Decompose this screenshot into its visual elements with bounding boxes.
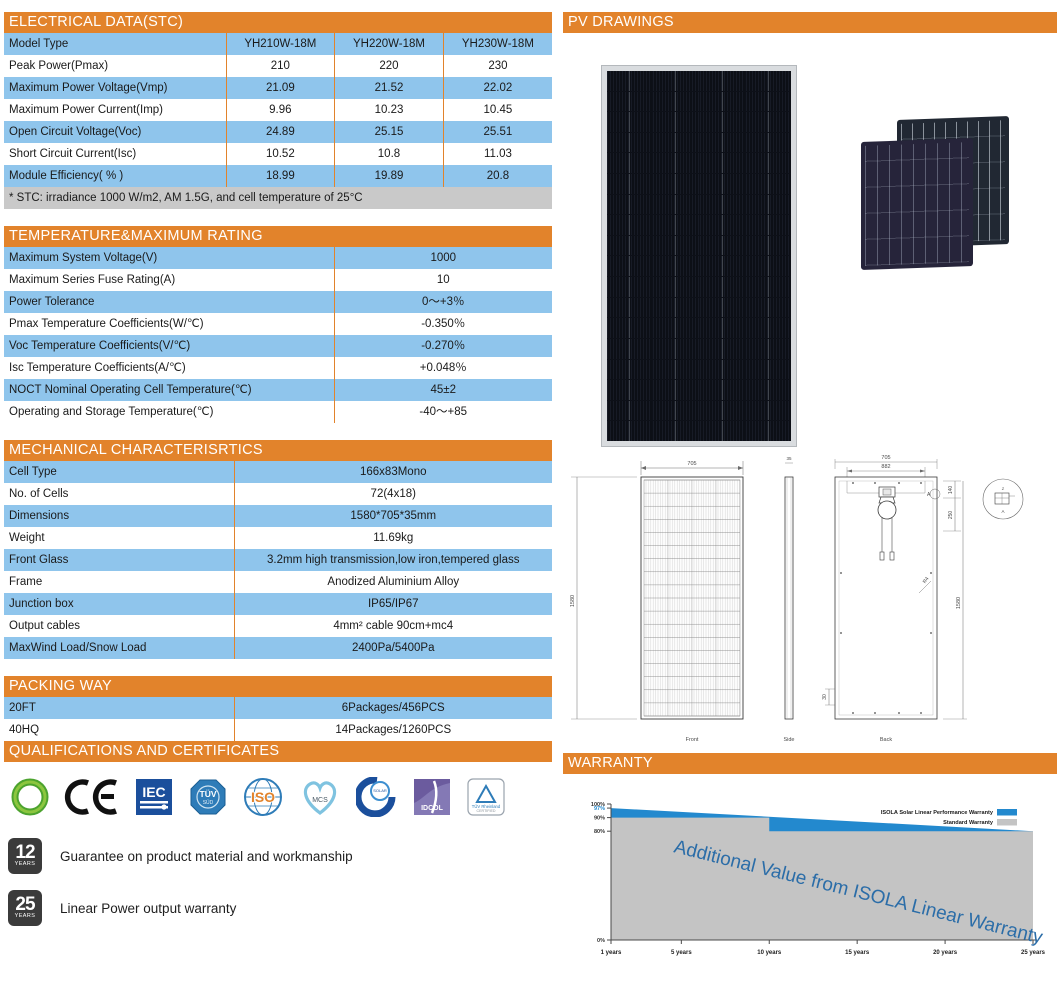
y-axis-tick-label: 90% bbox=[594, 816, 605, 822]
panel-cell bbox=[700, 236, 745, 256]
section-header-packing: PACKING WAY bbox=[4, 676, 552, 697]
table-row: Maximum Power Current(Imp) 9.96 10.23 10… bbox=[4, 99, 552, 121]
legend-label: Standard Warranty bbox=[943, 820, 994, 826]
panel-cell bbox=[653, 277, 698, 297]
y-axis-tick-label: 0% bbox=[597, 938, 605, 944]
warranty-description: Guarantee on product material and workma… bbox=[60, 849, 353, 864]
panel-cell bbox=[653, 236, 698, 256]
view-label-back: Back bbox=[880, 737, 892, 743]
cell-value: 230 bbox=[443, 55, 552, 77]
panel-cell bbox=[607, 360, 652, 380]
cell-value: 4mm² cable 90cm+mc4 bbox=[234, 615, 552, 637]
panel-cell bbox=[653, 401, 698, 421]
panel-cell bbox=[653, 256, 698, 276]
section-header-mechanical: MECHANICAL CHARACTERISRTICS bbox=[4, 440, 552, 461]
dim-hole-offset: 30 bbox=[822, 694, 828, 700]
panel-cell bbox=[607, 236, 652, 256]
panel-cell bbox=[653, 380, 698, 400]
panel-cell bbox=[746, 360, 791, 380]
cell-value: Anodized Aluminium Alloy bbox=[234, 571, 552, 593]
panel-cell bbox=[700, 298, 745, 318]
svg-text:A: A bbox=[1001, 509, 1004, 514]
datasheet-page: ELECTRICAL DATA(STC) Model Type YH210W-1… bbox=[0, 0, 1060, 999]
panel-cell bbox=[746, 256, 791, 276]
svg-text:SOLAR: SOLAR bbox=[373, 788, 387, 793]
x-axis-tick-label: 10 years bbox=[757, 950, 782, 956]
mechanical-table-body: Cell Type 166x83Mono No. of Cells 72(4x1… bbox=[4, 461, 552, 659]
warranty-years-number: 12 bbox=[15, 844, 34, 861]
dimension-drawings: 705 1580 Fr bbox=[563, 453, 1057, 753]
cell-value: 14Packages/1260PCS bbox=[234, 719, 552, 741]
cell-value: 25.51 bbox=[443, 121, 552, 143]
section-header-qualifications: QUALIFICATIONS AND CERTIFICATES bbox=[4, 741, 552, 762]
section-header-temperature: TEMPERATURE&MAXIMUM RATING bbox=[4, 226, 552, 247]
table-row: Cell Type 166x83Mono bbox=[4, 461, 552, 483]
table-row: Voc Temperature Coefficients(V/℃) -0.270… bbox=[4, 335, 552, 357]
blue-circle-certificate-icon: SOLAR bbox=[356, 775, 398, 819]
cell-value: 21.09 bbox=[226, 77, 335, 99]
legend-swatch bbox=[997, 809, 1017, 816]
panel-cell bbox=[653, 112, 698, 132]
warranty-badge-list: 12 YEARS Guarantee on product material a… bbox=[4, 824, 552, 934]
panel-cell bbox=[607, 256, 652, 276]
cell-value: 2400Pa/5400Pa bbox=[234, 637, 552, 659]
cell-value: 10 bbox=[334, 269, 552, 291]
panel-cell bbox=[746, 133, 791, 153]
y-axis-tick-label: 80% bbox=[594, 829, 605, 835]
front-view: 705 1580 Fr bbox=[570, 461, 743, 743]
cell-value: -0.350％ bbox=[334, 313, 552, 335]
section-header-warranty: WARRANTY bbox=[563, 753, 1057, 774]
panel-cell bbox=[607, 318, 652, 338]
row-label: Pmax Temperature Coefficients(W/℃) bbox=[4, 313, 334, 335]
model-name: YH210W-18M bbox=[226, 33, 335, 55]
panel-cell bbox=[700, 195, 745, 215]
panel-cell bbox=[653, 92, 698, 112]
back-view: 705 882 bbox=[822, 455, 967, 743]
tuv-certificate-icon: TÜV SÜD bbox=[188, 775, 228, 819]
panel-cell bbox=[700, 133, 745, 153]
svg-text:MCS: MCS bbox=[312, 797, 328, 804]
cell-value: 220 bbox=[335, 55, 444, 77]
cell-value: 11.03 bbox=[443, 143, 552, 165]
panel-cell bbox=[607, 298, 652, 318]
spacer bbox=[4, 423, 552, 440]
panel-cell bbox=[607, 153, 652, 173]
row-label: Peak Power(Pmax) bbox=[4, 55, 226, 77]
svg-text:SÜD: SÜD bbox=[203, 799, 214, 806]
warranty-badge-row: 25 YEARS Linear Power output warranty bbox=[8, 882, 548, 934]
panel-cell bbox=[700, 360, 745, 380]
cell-value: 166x83Mono bbox=[234, 461, 552, 483]
cell-value: 18.99 bbox=[226, 165, 335, 187]
row-label: Maximum Series Fuse Rating(A) bbox=[4, 269, 334, 291]
panel-cell bbox=[700, 421, 745, 441]
dim-back-width: 705 bbox=[881, 455, 890, 461]
right-column: PV DRAWINGS bbox=[563, 12, 1057, 974]
panel-cell bbox=[607, 339, 652, 359]
panel-cell bbox=[746, 236, 791, 256]
idcol-certificate-icon: IDCOL bbox=[412, 775, 452, 819]
panel-cell bbox=[653, 318, 698, 338]
cell-value: 72(4x18) bbox=[234, 483, 552, 505]
panel-cell bbox=[653, 133, 698, 153]
panel-cell bbox=[746, 195, 791, 215]
dim-thickness: 35 bbox=[786, 456, 792, 461]
panel-cell bbox=[607, 133, 652, 153]
cell-value: 1580*705*35mm bbox=[234, 505, 552, 527]
row-label: Cell Type bbox=[4, 461, 234, 483]
panel-cell bbox=[746, 92, 791, 112]
row-label: Model Type bbox=[4, 33, 226, 55]
x-axis-tick-label: 5 years bbox=[671, 950, 692, 956]
table-row: Peak Power(Pmax) 210 220 230 bbox=[4, 55, 552, 77]
packing-table-body: 20FT 6Packages/456PCS 40HQ 14Packages/12… bbox=[4, 697, 552, 741]
cell-value: 45±2 bbox=[334, 379, 552, 401]
row-label: Operating and Storage Temperature(℃) bbox=[4, 401, 334, 423]
panel-cell bbox=[700, 339, 745, 359]
cell-value: 0～+3％ bbox=[334, 291, 552, 313]
x-axis-tick-label: 25 years bbox=[1021, 950, 1046, 956]
row-label: NOCT Nominal Operating Cell Temperature(… bbox=[4, 379, 334, 401]
panel-cell bbox=[653, 298, 698, 318]
electrical-data-table: Model Type YH210W-18M YH220W-18M YH230W-… bbox=[4, 33, 552, 209]
panel-cell bbox=[607, 195, 652, 215]
row-label: 20FT bbox=[4, 697, 234, 719]
cell-value: 21.52 bbox=[335, 77, 444, 99]
panel-cell bbox=[746, 153, 791, 173]
panel-cell bbox=[746, 298, 791, 318]
mcs-certificate-icon: MCS bbox=[298, 775, 342, 819]
panel-cell bbox=[746, 174, 791, 194]
svg-text:CERTIFIED: CERTIFIED bbox=[477, 809, 496, 813]
panel-cell bbox=[746, 421, 791, 441]
table-row-model-header: Model Type YH210W-18M YH220W-18M YH230W-… bbox=[4, 33, 552, 55]
table-row: Front Glass 3.2mm high transmission,low … bbox=[4, 549, 552, 571]
left-column: ELECTRICAL DATA(STC) Model Type YH210W-1… bbox=[4, 12, 552, 934]
panel-cell bbox=[700, 215, 745, 235]
table-row: Maximum Power Voltage(Vmp) 21.09 21.52 2… bbox=[4, 77, 552, 99]
row-label: Junction box bbox=[4, 593, 234, 615]
table-row: 20FT 6Packages/456PCS bbox=[4, 697, 552, 719]
cell-value: 1000 bbox=[334, 247, 552, 269]
side-view: 35 Side bbox=[783, 456, 794, 743]
detail-view-a: Z A bbox=[983, 479, 1023, 519]
row-label: Maximum Power Current(Imp) bbox=[4, 99, 226, 121]
warranty-years-number: 25 bbox=[15, 896, 34, 913]
cell-value: 9.96 bbox=[226, 99, 335, 121]
cell-value: 22.02 bbox=[443, 77, 552, 99]
panel-cell bbox=[700, 112, 745, 132]
table-row: Maximum System Voltage(V) 1000 bbox=[4, 247, 552, 269]
svg-text:IEC: IEC bbox=[142, 784, 165, 800]
cell-value: 10.8 bbox=[335, 143, 444, 165]
panel-cell bbox=[700, 256, 745, 276]
table-row: Short Circuit Current(Isc) 10.52 10.8 11… bbox=[4, 143, 552, 165]
solar-cell-images bbox=[853, 118, 1043, 268]
svg-text:IDCOL: IDCOL bbox=[421, 805, 444, 812]
row-label: Short Circuit Current(Isc) bbox=[4, 143, 226, 165]
cell-value: 10.52 bbox=[226, 143, 335, 165]
temperature-table-body: Maximum System Voltage(V) 1000 Maximum S… bbox=[4, 247, 552, 423]
electrical-table-body: Model Type YH210W-18M YH220W-18M YH230W-… bbox=[4, 33, 552, 209]
y-axis-tick-label: 100% bbox=[591, 802, 605, 808]
table-row: Output cables 4mm² cable 90cm+mc4 bbox=[4, 615, 552, 637]
row-label: Open Circuit Voltage(Voc) bbox=[4, 121, 226, 143]
dim-mount-span: 882 bbox=[881, 464, 890, 470]
panel-cell bbox=[700, 318, 745, 338]
table-row: Operating and Storage Temperature(℃) -40… bbox=[4, 401, 552, 423]
panel-cell-grid bbox=[607, 71, 791, 441]
warranty-years-unit: YEARS bbox=[15, 913, 36, 920]
panel-cell bbox=[746, 318, 791, 338]
cell-value: 19.89 bbox=[335, 165, 444, 187]
panel-cell bbox=[607, 215, 652, 235]
panel-cell bbox=[653, 360, 698, 380]
panel-cell bbox=[700, 92, 745, 112]
panel-cell bbox=[653, 339, 698, 359]
svg-text:Z: Z bbox=[1002, 486, 1005, 491]
x-axis-tick-label: 1 years bbox=[601, 950, 622, 956]
panel-cell bbox=[653, 174, 698, 194]
table-row: Open Circuit Voltage(Voc) 24.89 25.15 25… bbox=[4, 121, 552, 143]
panel-cell bbox=[746, 71, 791, 91]
panel-cell bbox=[653, 71, 698, 91]
panel-cell bbox=[607, 277, 652, 297]
iec-certificate-icon: IEC bbox=[134, 775, 174, 819]
row-label: Module Efficiency( % ) bbox=[4, 165, 226, 187]
cell-value: -40～+85 bbox=[334, 401, 552, 423]
panel-cell bbox=[653, 421, 698, 441]
panel-cell bbox=[607, 174, 652, 194]
panel-cell bbox=[700, 380, 745, 400]
panel-cell bbox=[746, 112, 791, 132]
solar-panel-image bbox=[601, 65, 797, 447]
panel-cell bbox=[746, 277, 791, 297]
row-label: 40HQ bbox=[4, 719, 234, 741]
warranty-badge-row: 12 YEARS Guarantee on product material a… bbox=[8, 830, 548, 882]
panel-cell bbox=[653, 215, 698, 235]
dim-frame-height: 1580 bbox=[956, 597, 962, 609]
temperature-rating-table: Maximum System Voltage(V) 1000 Maximum S… bbox=[4, 247, 552, 423]
table-row: Isc Temperature Coefficients(A/℃) +0.048… bbox=[4, 357, 552, 379]
table-row: No. of Cells 72(4x18) bbox=[4, 483, 552, 505]
table-row: Pmax Temperature Coefficients(W/℃) -0.35… bbox=[4, 313, 552, 335]
cell-value: 210 bbox=[226, 55, 335, 77]
panel-cell bbox=[607, 92, 652, 112]
row-label: Output cables bbox=[4, 615, 234, 637]
legend-label: ISOLA Solar Linear Performance Warranty bbox=[881, 810, 994, 816]
packing-way-table: 20FT 6Packages/456PCS 40HQ 14Packages/12… bbox=[4, 697, 552, 741]
cell-value: 20.8 bbox=[443, 165, 552, 187]
panel-cell bbox=[607, 380, 652, 400]
table-row: 40HQ 14Packages/1260PCS bbox=[4, 719, 552, 741]
chart-legend: ISOLA Solar Linear Performance Warranty … bbox=[881, 809, 1017, 826]
panel-cell bbox=[607, 112, 652, 132]
cell-value: -0.270％ bbox=[334, 335, 552, 357]
panel-cell bbox=[607, 401, 652, 421]
cell-busbars bbox=[865, 142, 969, 266]
row-label: Frame bbox=[4, 571, 234, 593]
panel-cell bbox=[607, 421, 652, 441]
section-header-electrical: ELECTRICAL DATA(STC) bbox=[4, 12, 552, 33]
spacer bbox=[4, 659, 552, 676]
tuv-certified-icon: TÜV Rheinland CERTIFIED bbox=[466, 775, 506, 819]
table-row: NOCT Nominal Operating Cell Temperature(… bbox=[4, 379, 552, 401]
table-row: Module Efficiency( % ) 18.99 19.89 20.8 bbox=[4, 165, 552, 187]
row-label: MaxWind Load/Snow Load bbox=[4, 637, 234, 659]
panel-cell bbox=[746, 401, 791, 421]
row-label: Maximum Power Voltage(Vmp) bbox=[4, 77, 226, 99]
table-row: Junction box IP65/IP67 bbox=[4, 593, 552, 615]
svg-text:TÜV: TÜV bbox=[200, 789, 217, 799]
legend-swatch bbox=[997, 819, 1017, 826]
ce-mark-icon bbox=[64, 775, 120, 819]
table-row: Frame Anodized Aluminium Alloy bbox=[4, 571, 552, 593]
cell-value: 10.23 bbox=[335, 99, 444, 121]
cell-value: 3.2mm high transmission,low iron,tempere… bbox=[234, 549, 552, 571]
pv-product-images bbox=[563, 33, 1057, 453]
row-label: Maximum System Voltage(V) bbox=[4, 247, 334, 269]
green-ring-icon bbox=[10, 775, 50, 819]
model-name: YH220W-18M bbox=[335, 33, 444, 55]
table-row: Dimensions 1580*705*35mm bbox=[4, 505, 552, 527]
panel-frame bbox=[601, 65, 797, 447]
iso-certificate-icon: ISO bbox=[242, 775, 284, 819]
view-label-front: Front bbox=[686, 737, 699, 743]
view-label-side: Side bbox=[783, 737, 794, 743]
spacer bbox=[4, 209, 552, 226]
cell-value: 6Packages/456PCS bbox=[234, 697, 552, 719]
warranty-years-unit: YEARS bbox=[15, 861, 36, 868]
panel-cell bbox=[700, 401, 745, 421]
section-header-pv-drawings: PV DRAWINGS bbox=[563, 12, 1057, 33]
row-label: Front Glass bbox=[4, 549, 234, 571]
cell-value: 10.45 bbox=[443, 99, 552, 121]
row-label: Dimensions bbox=[4, 505, 234, 527]
warranty-chart: 0%80%90%97%100% 1 years5 years10 years15… bbox=[563, 774, 1057, 974]
dim-front-height: 1580 bbox=[570, 595, 576, 607]
cell-value: 24.89 bbox=[226, 121, 335, 143]
dim-jbox-offset: 140 bbox=[948, 486, 954, 495]
svg-text:ISO: ISO bbox=[251, 789, 275, 805]
cell-value: 11.69kg bbox=[234, 527, 552, 549]
warranty-description: Linear Power output warranty bbox=[60, 901, 236, 916]
row-label: Voc Temperature Coefficients(V/℃) bbox=[4, 335, 334, 357]
mechanical-characteristics-table: Cell Type 166x83Mono No. of Cells 72(4x1… bbox=[4, 461, 552, 659]
table-row: Weight 11.69kg bbox=[4, 527, 552, 549]
warranty-years-badge: 25 YEARS bbox=[8, 890, 42, 926]
model-name: YH230W-18M bbox=[443, 33, 552, 55]
table-row: MaxWind Load/Snow Load 2400Pa/5400Pa bbox=[4, 637, 552, 659]
panel-cell bbox=[700, 174, 745, 194]
dim-front-width: 705 bbox=[687, 461, 696, 467]
cell-value: IP65/IP67 bbox=[234, 593, 552, 615]
row-label: Power Tolerance bbox=[4, 291, 334, 313]
panel-cell bbox=[746, 380, 791, 400]
solar-cell-front bbox=[861, 138, 973, 270]
panel-cell bbox=[746, 339, 791, 359]
table-row-stc-note: * STC: irradiance 1000 W/m2, AM 1.5G, an… bbox=[4, 187, 552, 209]
row-label: No. of Cells bbox=[4, 483, 234, 505]
x-axis-tick-label: 15 years bbox=[845, 950, 870, 956]
row-label: Isc Temperature Coefficients(A/℃) bbox=[4, 357, 334, 379]
panel-cell bbox=[700, 71, 745, 91]
cell-value: +0.048％ bbox=[334, 357, 552, 379]
table-row: Power Tolerance 0～+3％ bbox=[4, 291, 552, 313]
dim-cable-length: 250 bbox=[948, 511, 954, 520]
warranty-years-badge: 12 YEARS bbox=[8, 838, 42, 874]
panel-cell bbox=[653, 195, 698, 215]
cell-value: 25.15 bbox=[335, 121, 444, 143]
table-row: Maximum Series Fuse Rating(A) 10 bbox=[4, 269, 552, 291]
row-label: Weight bbox=[4, 527, 234, 549]
stc-note: * STC: irradiance 1000 W/m2, AM 1.5G, an… bbox=[4, 187, 552, 209]
x-axis-tick-label: 20 years bbox=[933, 950, 958, 956]
panel-cell bbox=[746, 215, 791, 235]
panel-cell bbox=[700, 277, 745, 297]
certificate-logos: IEC TÜV SÜD bbox=[4, 762, 552, 824]
panel-cell bbox=[653, 153, 698, 173]
panel-cell bbox=[700, 153, 745, 173]
panel-cell bbox=[607, 71, 652, 91]
